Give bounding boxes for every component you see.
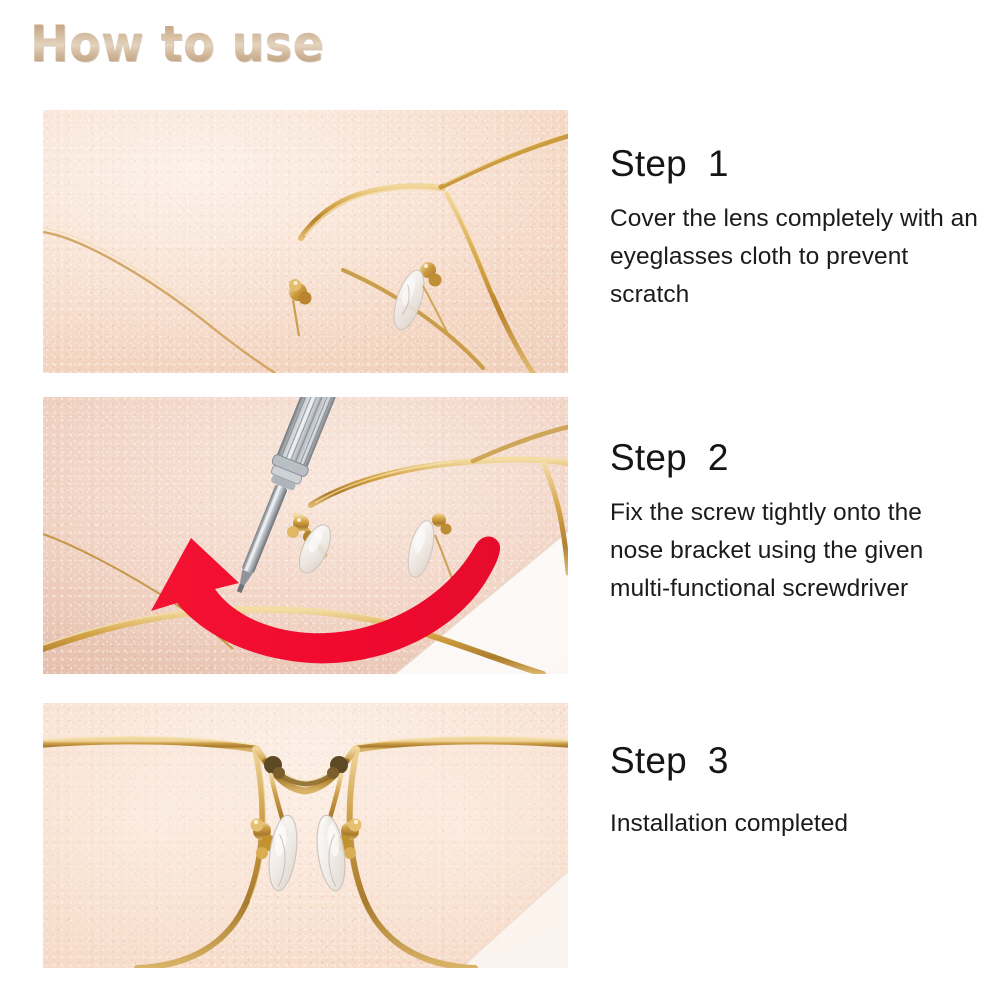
step-3-text-block: Step 3 Installation completed [610,739,985,843]
step-1-illustration [43,110,568,373]
step-1-photo [43,110,568,373]
step-1-body: Cover the lens completely with an eyegla… [610,200,980,314]
step-3-illustration [43,703,568,968]
step-2-heading: Step 2 [610,436,985,480]
step-3-photo [43,703,568,968]
step-1-text-block: Step 1 Cover the lens completely with an… [610,142,985,314]
step-3-heading: Step 3 [610,739,985,783]
step-2-text-block: Step 2 Fix the screw tightly onto the no… [610,436,985,608]
step-2-photo [43,397,568,674]
step-2-body: Fix the screw tightly onto the nose brac… [610,494,980,608]
step-3-body: Installation completed [610,805,980,843]
page-title: How to use [30,16,324,72]
step-2-illustration [43,397,568,674]
step-1-heading: Step 1 [610,142,985,186]
